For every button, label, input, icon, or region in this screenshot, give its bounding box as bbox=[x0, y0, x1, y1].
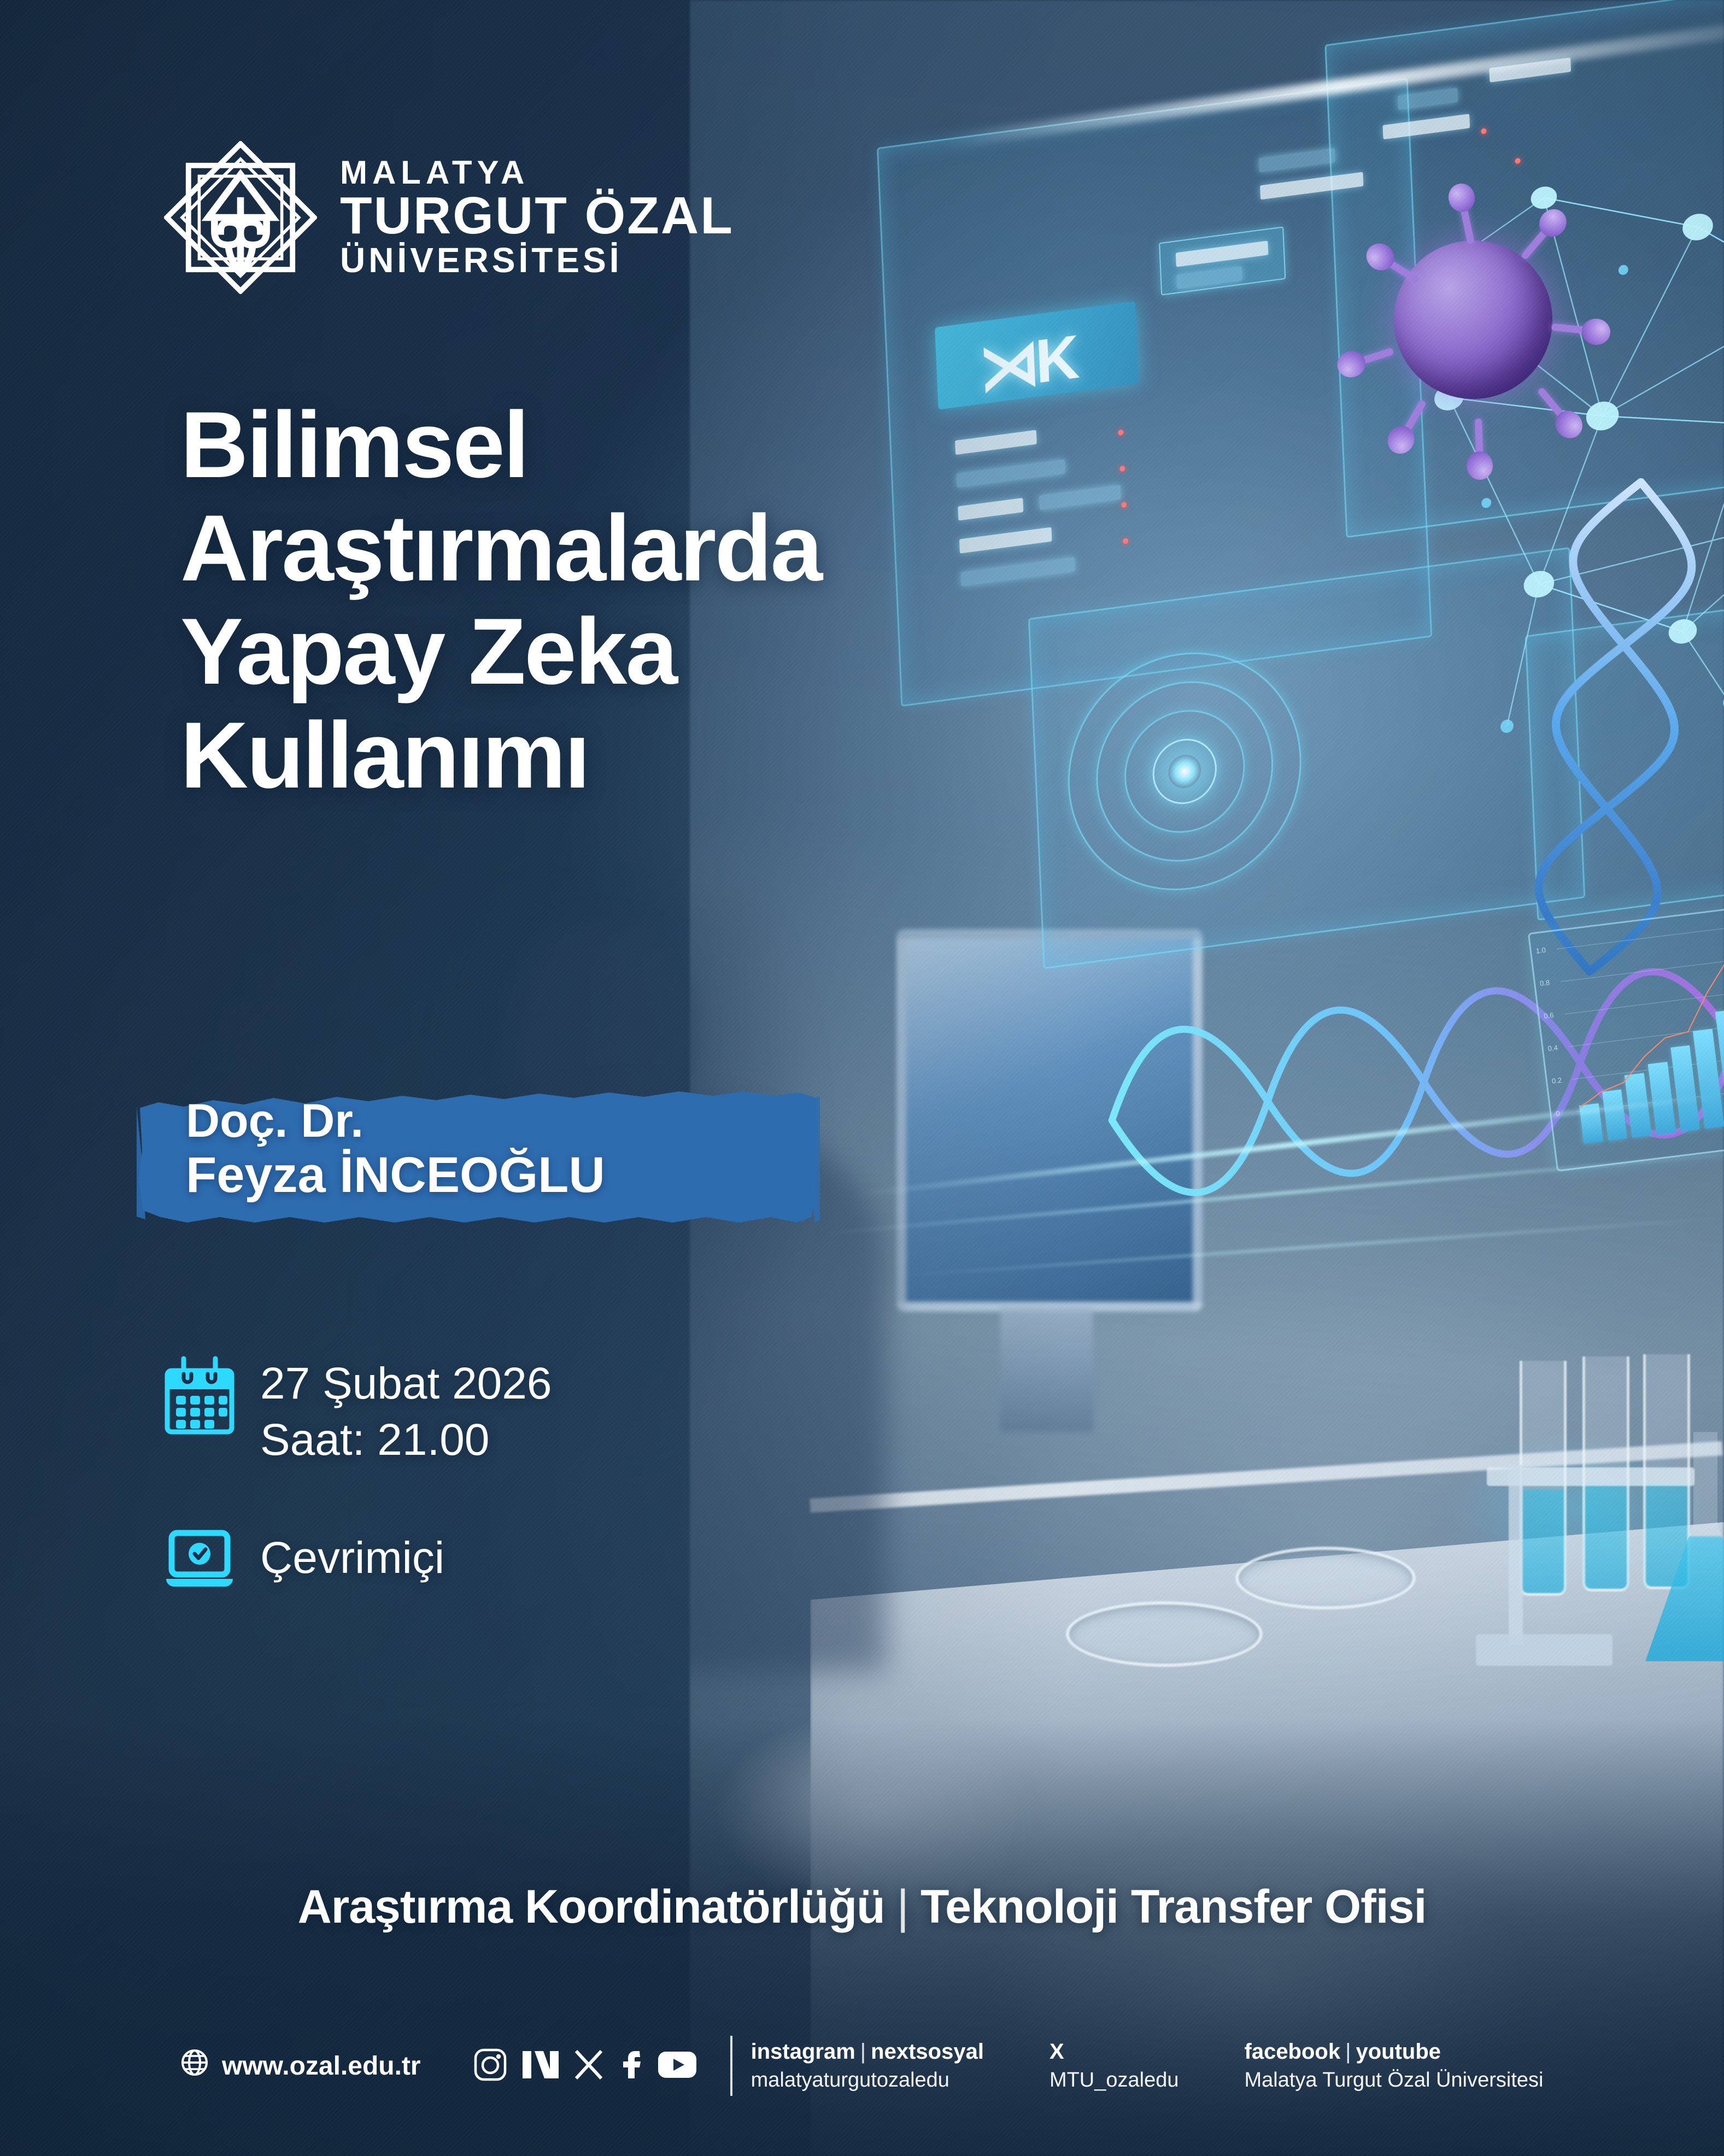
platform-x: X bbox=[1049, 2037, 1064, 2066]
platform-facebook: facebook bbox=[1245, 2037, 1341, 2066]
event-time: Saat: 21.00 bbox=[260, 1412, 552, 1468]
footer-column-facebook-youtube[interactable]: facebook|youtube Malatya Turgut Özal Üni… bbox=[1245, 2037, 1544, 2094]
event-date-text: 27 Şubat 2026 Saat: 21.00 bbox=[260, 1355, 552, 1468]
speaker-text: Doç. Dr. Feyza İNCEOĞLU bbox=[186, 1095, 605, 1203]
title-line-1: Bilimsel bbox=[180, 393, 1142, 497]
footer-bar: www.ozal.edu.tr bbox=[0, 1976, 1724, 2156]
instagram-icon[interactable] bbox=[473, 2048, 507, 2084]
platform-divider: | bbox=[855, 2037, 871, 2066]
platform-divider: | bbox=[1340, 2037, 1356, 2066]
website-url: www.ozal.edu.tr bbox=[222, 2051, 421, 2081]
organizer-right: Teknoloji Transfer Ofisi bbox=[920, 1881, 1426, 1933]
organizers-line: Araştırma Koordinatörlüğü|Teknoloji Tran… bbox=[0, 1880, 1724, 1934]
poster-content: MALATYA TURGUT ÖZAL ÜNİVERSİTESİ Bilimse… bbox=[0, 0, 1724, 2156]
speaker-title-prefix: Doç. Dr. bbox=[186, 1095, 605, 1147]
title-line-3: Yapay Zeka bbox=[180, 600, 1142, 703]
globe-icon bbox=[180, 2048, 209, 2083]
university-wordmark: MALATYA TURGUT ÖZAL ÜNİVERSİTESİ bbox=[340, 156, 734, 279]
event-mode-row: Çevrimiçi bbox=[164, 1530, 552, 1593]
footer-platforms: X bbox=[1049, 2037, 1179, 2066]
youtube-icon[interactable] bbox=[657, 2049, 697, 2083]
handle-x: MTU_ozaledu bbox=[1049, 2066, 1179, 2094]
footer-platforms: facebook|youtube bbox=[1245, 2037, 1544, 2066]
logo-line-2: TURGUT ÖZAL bbox=[340, 190, 734, 242]
speaker-name: Feyza İNCEOĞLU bbox=[186, 1147, 605, 1203]
title-line-2: Araştırmalarda bbox=[180, 497, 1142, 600]
event-date: 27 Şubat 2026 bbox=[260, 1355, 552, 1412]
x-twitter-icon[interactable] bbox=[574, 2048, 606, 2084]
handle-facebook-youtube: Malatya Turgut Özal Üniversitesi bbox=[1245, 2066, 1544, 2094]
event-mode-text: Çevrimiçi bbox=[260, 1530, 444, 1586]
platform-youtube: youtube bbox=[1356, 2037, 1441, 2066]
university-logo: MALATYA TURGUT ÖZAL ÜNİVERSİTESİ bbox=[164, 141, 734, 294]
organizer-divider: | bbox=[885, 1881, 920, 1933]
title-line-4: Kullanımı bbox=[180, 704, 1142, 807]
logo-line-3: ÜNİVERSİTESİ bbox=[340, 242, 734, 279]
platform-nextsosyal: nextsosyal bbox=[871, 2037, 984, 2066]
event-mode: Çevrimiçi bbox=[260, 1530, 444, 1586]
social-icon-row bbox=[473, 2048, 697, 2084]
event-date-row: 27 Şubat 2026 Saat: 21.00 bbox=[164, 1355, 552, 1468]
footer-platforms: instagram|nextsosyal bbox=[751, 2037, 984, 2066]
speaker-badge: Doç. Dr. Feyza İNCEOĞLU bbox=[137, 1079, 820, 1232]
event-details: 27 Şubat 2026 Saat: 21.00 Çevrimiçi bbox=[164, 1355, 552, 1593]
calendar-icon bbox=[164, 1355, 235, 1437]
nextsosyal-icon[interactable] bbox=[521, 2048, 560, 2084]
seljuk-star-emblem-icon bbox=[164, 141, 317, 294]
laptop-check-icon bbox=[164, 1530, 235, 1593]
poster-root: ⋊K bbox=[0, 0, 1724, 2156]
website-link[interactable]: www.ozal.edu.tr bbox=[180, 2048, 421, 2083]
footer-column-x[interactable]: X MTU_ozaledu bbox=[1049, 2037, 1179, 2094]
logo-line-1: MALATYA bbox=[340, 156, 734, 189]
organizer-left: Araştırma Koordinatörlüğü bbox=[298, 1881, 885, 1933]
handle-instagram: malatyaturgutozaledu bbox=[751, 2066, 984, 2094]
platform-instagram: instagram bbox=[751, 2037, 855, 2066]
event-title: Bilimsel Araştırmalarda Yapay Zeka Kulla… bbox=[180, 393, 1142, 807]
facebook-icon[interactable] bbox=[620, 2048, 643, 2084]
footer-divider bbox=[730, 2036, 732, 2096]
footer-column-instagram[interactable]: instagram|nextsosyal malatyaturgutozaled… bbox=[751, 2037, 984, 2094]
